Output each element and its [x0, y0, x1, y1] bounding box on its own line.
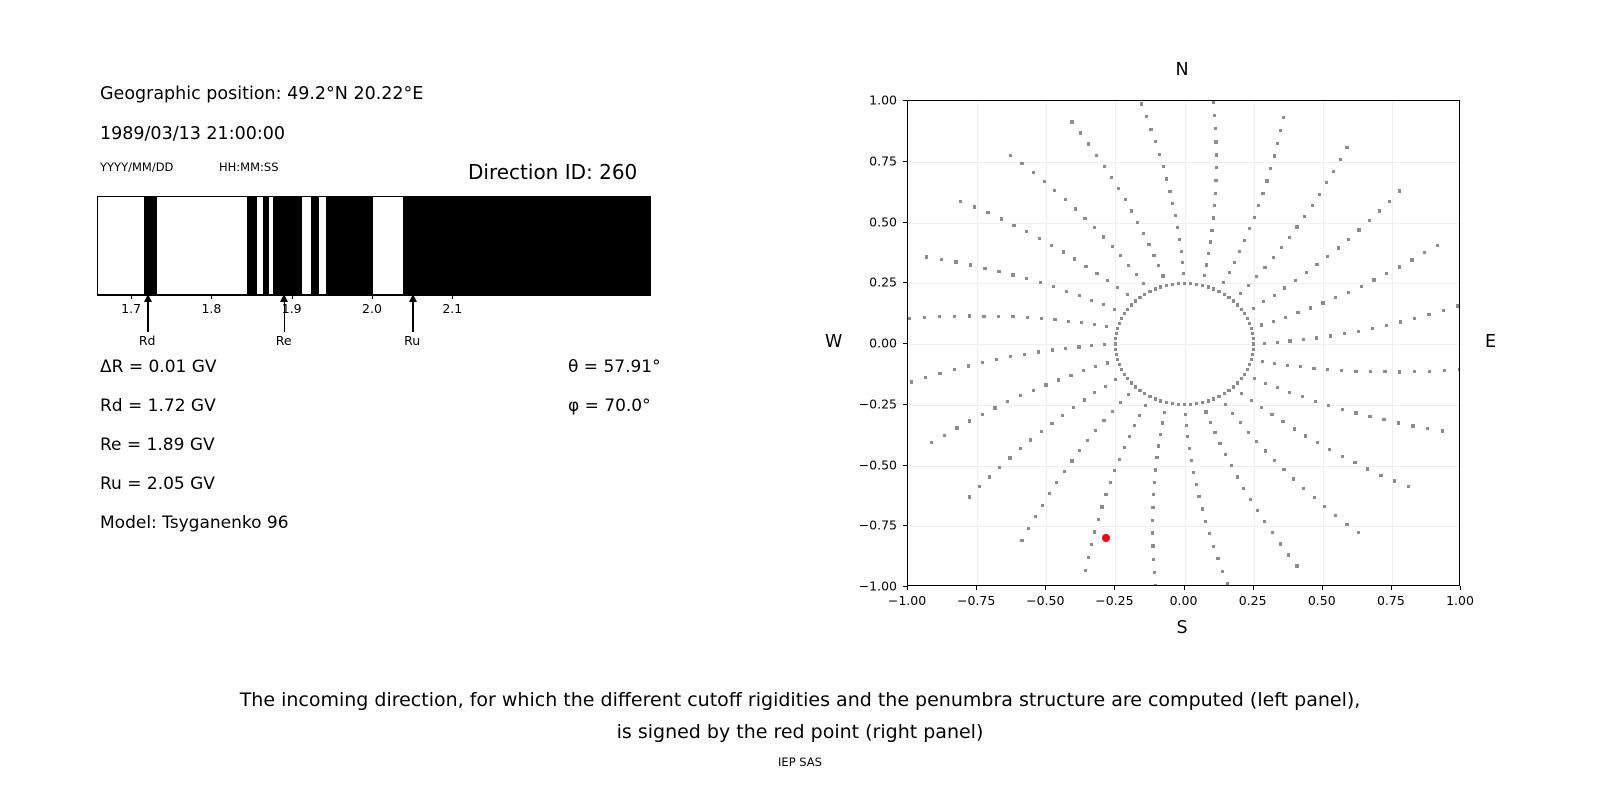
direction-id-label: Direction ID: 260 [468, 160, 637, 184]
parameter-item: Re = 1.89 GV [100, 435, 215, 455]
scatter-x-tick [1045, 586, 1046, 590]
scatter-x-tick [1322, 586, 1323, 590]
parameter-item: Ru = 2.05 GV [100, 474, 215, 494]
compass-label-east: E [1485, 332, 1496, 352]
direction-map-panel: −1.00−0.75−0.50−0.250.000.250.500.751.00… [830, 40, 1550, 660]
scatter-x-tick [907, 586, 908, 590]
scatter-x-tick-label: −0.75 [957, 593, 995, 608]
scatter-y-tick [903, 282, 907, 283]
penumbra-band-forbidden [144, 197, 157, 294]
scatter-x-tick-label: 0.75 [1377, 593, 1405, 608]
date-format-hint: YYYY/MM/DD [100, 160, 173, 174]
penumbra-band-forbidden [311, 197, 319, 294]
compass-label-west: W [825, 332, 842, 352]
marker-arrow-icon [144, 294, 152, 302]
scatter-y-tick-label: −0.25 [845, 396, 897, 411]
time-format-hint: HH:MM:SS [219, 160, 279, 174]
parameter-item: Model: Tsyganenko 96 [100, 513, 289, 533]
scatter-x-tick [1184, 586, 1185, 590]
scatter-x-tick-label: 0.50 [1308, 593, 1336, 608]
scatter-y-tick-label: 0.75 [845, 153, 897, 168]
penumbra-band-forbidden [326, 197, 373, 294]
scatter-x-tick-label: −0.50 [1026, 593, 1064, 608]
penumbra-x-tick-label: 2.0 [362, 301, 382, 316]
scatter-y-tick-label: −0.75 [845, 518, 897, 533]
penumbra-x-tick-label: 1.8 [201, 301, 221, 316]
parameter-item-angle: θ = 57.91° [568, 357, 661, 377]
scatter-x-tick [1460, 586, 1461, 590]
figure-caption: The incoming direction, for which the di… [0, 684, 1600, 748]
parameter-item: Rd = 1.72 GV [100, 396, 216, 416]
scatter-x-tick [976, 586, 977, 590]
scatter-x-tick [1114, 586, 1115, 590]
scatter-y-tick-label: 1.00 [845, 93, 897, 108]
compass-label-south: S [1177, 618, 1188, 638]
parameter-item: ΔR = 0.01 GV [100, 357, 217, 377]
scatter-y-tick [903, 222, 907, 223]
penumbra-band-forbidden [273, 197, 301, 294]
scatter-y-tick [903, 404, 907, 405]
scatter-y-tick-label: 0.25 [845, 275, 897, 290]
scatter-x-tick-label: 0.25 [1239, 593, 1267, 608]
penumbra-bar-container [97, 196, 651, 295]
penumbra-band-forbidden [403, 197, 651, 294]
scatter-axes-layer: −1.00−0.75−0.50−0.250.000.250.500.751.00… [830, 40, 1550, 660]
marker-label: Rd [139, 333, 156, 348]
scatter-y-tick-label: −1.00 [845, 579, 897, 594]
compass-label-north: N [1176, 60, 1189, 80]
penumbra-x-tick [452, 295, 453, 299]
scatter-x-tick [1391, 586, 1392, 590]
parameter-item-angle: φ = 70.0° [568, 396, 651, 416]
caption-line-1: The incoming direction, for which the di… [0, 684, 1600, 716]
footer-credit: IEP SAS [0, 755, 1600, 769]
datetime-label: 1989/03/13 21:00:00 [100, 124, 285, 144]
penumbra-band-forbidden [247, 197, 257, 294]
scatter-y-tick [903, 161, 907, 162]
penumbra-panel: Geographic position: 49.2°N 20.22°E 1989… [0, 0, 760, 660]
penumbra-x-tick [372, 295, 373, 299]
scatter-y-tick-label: 0.50 [845, 214, 897, 229]
marker-label: Re [276, 333, 292, 348]
penumbra-bar [97, 196, 651, 295]
marker-arrow-icon [280, 294, 288, 302]
penumbra-x-tick-label: 1.7 [121, 301, 141, 316]
caption-line-2: is signed by the red point (right panel) [0, 716, 1600, 748]
penumbra-x-tick [211, 295, 212, 299]
scatter-x-tick [1253, 586, 1254, 590]
marker-label: Ru [404, 333, 420, 348]
scatter-x-tick-label: −0.25 [1095, 593, 1133, 608]
scatter-y-tick [903, 343, 907, 344]
scatter-y-tick [903, 100, 907, 101]
scatter-x-tick-label: 0.00 [1170, 593, 1198, 608]
scatter-y-tick [903, 465, 907, 466]
scatter-x-tick-label: −1.00 [888, 593, 926, 608]
scatter-y-tick-label: −0.50 [845, 457, 897, 472]
scatter-y-tick [903, 525, 907, 526]
marker-arrow-icon [409, 294, 417, 302]
penumbra-band-forbidden [263, 197, 269, 294]
penumbra-x-tick-label: 2.1 [442, 301, 462, 316]
geographic-position-label: Geographic position: 49.2°N 20.22°E [100, 84, 423, 104]
scatter-y-tick-label: 0.00 [845, 336, 897, 351]
scatter-x-tick-label: 1.00 [1446, 593, 1474, 608]
penumbra-x-tick [292, 295, 293, 299]
penumbra-x-tick [131, 295, 132, 299]
